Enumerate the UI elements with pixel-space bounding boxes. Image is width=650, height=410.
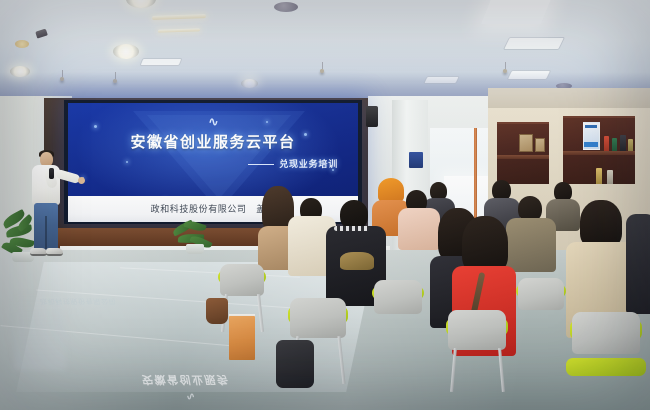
air-vent xyxy=(274,2,298,12)
shelf-bottle xyxy=(620,135,626,151)
presenter-leg-gap xyxy=(45,216,47,251)
plant-pot xyxy=(186,244,204,254)
presenter-shoe-left xyxy=(30,248,47,256)
black-backpack xyxy=(276,340,314,388)
microphone xyxy=(49,168,54,179)
presenter-hand xyxy=(78,177,85,184)
subtitle-dash xyxy=(248,164,274,166)
orange-beanie xyxy=(378,178,404,202)
picture-frame xyxy=(519,134,533,152)
chair-back xyxy=(518,278,564,310)
slide-sparkle xyxy=(266,121,268,123)
chair-back xyxy=(220,264,264,296)
shelf-board xyxy=(497,155,549,159)
recessed-downlight xyxy=(15,40,29,48)
sprinkler-stem xyxy=(505,62,506,69)
floor-reflected-title: 安徽省创业服务 xyxy=(141,372,231,388)
torso xyxy=(398,208,440,250)
poster-footer-bar xyxy=(584,142,598,147)
hair xyxy=(580,200,622,248)
floor-reflected-footer: 政和科技股份有限公司 xyxy=(39,296,117,306)
wall-speaker xyxy=(366,106,378,127)
shelf-bottle xyxy=(612,138,617,151)
picture-frame xyxy=(535,138,545,152)
shelf-bottle xyxy=(607,170,613,184)
slide-sparkle xyxy=(94,125,97,128)
torso xyxy=(506,218,556,272)
slide-sparkle xyxy=(126,161,128,163)
chair-back xyxy=(572,312,640,354)
shelf-bottle xyxy=(628,139,633,151)
slide-subtitle-text: 兑现业务培训 xyxy=(279,159,338,169)
brown-handbag xyxy=(206,298,228,324)
shelf-bottle xyxy=(596,168,602,184)
orange-paper-shopping-bag xyxy=(229,316,255,360)
slide-subtitle: 兑现业务培训 xyxy=(248,157,338,170)
skylight-panel xyxy=(481,0,553,24)
recessed-downlight xyxy=(113,44,139,59)
eagle-graphic xyxy=(340,252,374,270)
blue-wall-sign xyxy=(409,152,423,168)
collar-chain xyxy=(334,226,370,231)
chair-back xyxy=(290,298,346,338)
presenter-shoe-right xyxy=(46,248,63,256)
orange-pipe xyxy=(474,128,477,226)
chair-seat-trim xyxy=(566,358,646,376)
ceiling-soffit xyxy=(488,88,650,108)
bookshelf-alcove-left xyxy=(497,122,549,184)
sprinkler-stem xyxy=(322,62,323,69)
slide-title: 安徽省创业服务云平台 xyxy=(68,131,358,152)
poster-header-bar xyxy=(585,125,597,128)
platform-logo-icon: ∿ xyxy=(202,115,224,128)
square-light-panel xyxy=(139,58,182,66)
chair-back xyxy=(448,310,506,350)
floor-reflected-logo-icon: ∿ xyxy=(186,390,195,403)
shelf-board xyxy=(563,151,635,155)
seminar-photo: ∿ 安徽省创业服务云平台 兑现业务培训 政和科技股份有限公司 盖印 政和科技股份… xyxy=(0,0,650,410)
square-light-panel xyxy=(503,37,565,50)
chair-back xyxy=(374,280,422,314)
torso xyxy=(626,214,650,314)
shelf-bottle xyxy=(604,136,609,151)
